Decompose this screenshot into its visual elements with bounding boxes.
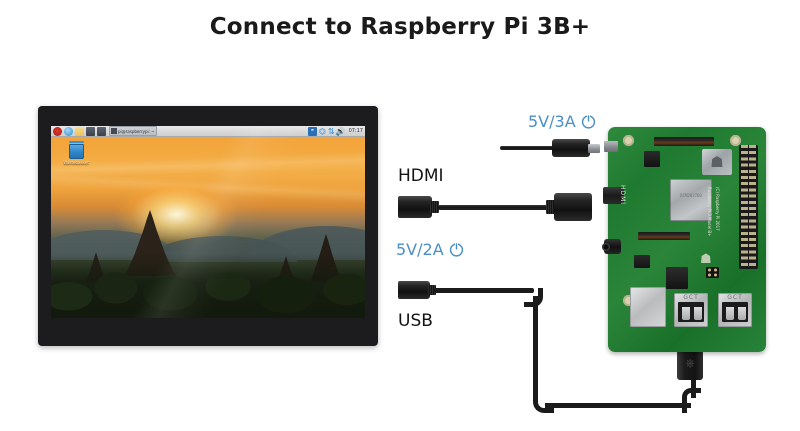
volume-icon[interactable]: 🔊 bbox=[336, 127, 346, 136]
wallpaper-foliage bbox=[51, 254, 365, 318]
label-power-pi-text: 5V/3A bbox=[528, 112, 576, 131]
file-manager-icon[interactable] bbox=[75, 127, 84, 136]
usb-port-tongue bbox=[682, 307, 690, 320]
raspberry-pi-3b-plus-board: ☗ BCM2837B0 ☗ Raspberry Pi 3 Model B+ (C… bbox=[608, 127, 766, 352]
soc-marking: BCM2837B0 bbox=[670, 179, 712, 221]
usb-port-brand-label: GCT bbox=[674, 294, 708, 301]
usb-port-pair-1: GCT bbox=[674, 293, 708, 327]
network-updown-icon[interactable]: ⇅ bbox=[328, 127, 334, 136]
hdmi-port-silkscreen: HDMI bbox=[619, 185, 626, 205]
hdmi-connector-pi-side bbox=[554, 193, 592, 221]
pi-power-cable-wire bbox=[500, 146, 558, 150]
usb-port-tongue bbox=[738, 307, 746, 320]
taskbar-clock: 07:17 bbox=[349, 127, 363, 136]
label-power-pi: 5V/3A bbox=[528, 112, 597, 131]
power-symbol-icon bbox=[448, 241, 465, 258]
desktop-icon-label: Wastebasket bbox=[59, 160, 93, 165]
taskbar-window-button[interactable]: pi@raspberrypi: ~ bbox=[109, 126, 157, 136]
bluetooth-icon[interactable]: ⏣ bbox=[319, 127, 326, 136]
wireless-chip-shield: ☗ bbox=[702, 149, 732, 175]
ram-chip bbox=[644, 151, 660, 167]
gpio-header-row-2 bbox=[749, 145, 756, 269]
raspberry-silkscreen-logo: ☗ bbox=[700, 251, 712, 267]
terminal-icon[interactable] bbox=[97, 127, 106, 136]
usb-port-tongue bbox=[726, 307, 734, 320]
csi-camera-connector bbox=[654, 137, 714, 146]
micro-usb-tip bbox=[588, 144, 600, 153]
desktop-icon-wastebasket[interactable]: Wastebasket bbox=[59, 141, 93, 165]
wifi-icon[interactable]: ◓ bbox=[308, 127, 317, 136]
bcm2837b0-soc: BCM2837B0 bbox=[670, 179, 712, 221]
display-bezel-inner: Wastebasket pi@raspberrypi: ~ ◓ ⏣ ⇅ bbox=[51, 126, 365, 318]
raspberry-logo-icon: ☗ bbox=[710, 155, 723, 170]
mounting-hole bbox=[623, 135, 634, 146]
usb-port-pair-2: GCT bbox=[718, 293, 752, 327]
page-title: Connect to Raspberry Pi 3B+ bbox=[0, 14, 800, 40]
micro-usb-power-connector bbox=[552, 139, 590, 157]
usb-connector-display-side bbox=[398, 281, 430, 299]
label-power-display: 5V/2A bbox=[396, 240, 465, 259]
label-usb: USB bbox=[398, 311, 433, 331]
power-symbol-icon bbox=[580, 113, 597, 130]
web-browser-icon[interactable] bbox=[64, 127, 73, 136]
taskbar-window-title: pi@raspberrypi: ~ bbox=[118, 129, 155, 134]
system-tray: ◓ ⏣ ⇅ 🔊 07:17 bbox=[308, 127, 363, 136]
power-management-ic bbox=[666, 267, 688, 289]
audio-video-jack-ring bbox=[602, 243, 610, 251]
desktop-wallpaper bbox=[51, 126, 365, 318]
usb-cable-segment-vertical bbox=[533, 296, 538, 400]
dsi-display-connector bbox=[638, 232, 690, 240]
raspberry-menu-icon[interactable] bbox=[53, 127, 62, 136]
terminal-window-icon bbox=[111, 128, 117, 134]
ethernet-port bbox=[630, 287, 666, 327]
label-hdmi: HDMI bbox=[398, 166, 444, 186]
terminal-icon[interactable] bbox=[86, 127, 95, 136]
label-power-display-text: 5V/2A bbox=[396, 240, 444, 259]
micro-usb-power-port bbox=[604, 141, 618, 152]
usb-cable-segment-horizontal bbox=[545, 403, 691, 408]
raspberry-pi-display: Wastebasket pi@raspberrypi: ~ ◓ ⏣ ⇅ bbox=[38, 106, 378, 346]
wastebasket-lid-icon bbox=[69, 141, 84, 143]
lan-controller-chip bbox=[634, 255, 650, 268]
wastebasket-icon bbox=[69, 144, 84, 159]
usb-port-brand-label: GCT bbox=[718, 294, 752, 301]
board-model-silkscreen: Raspberry Pi 3 Model B+ bbox=[707, 187, 712, 237]
desktop-taskbar: pi@raspberrypi: ~ ◓ ⏣ ⇅ 🔊 07:17 bbox=[51, 126, 365, 137]
display-screen: Wastebasket pi@raspberrypi: ~ ◓ ⏣ ⇅ bbox=[51, 126, 365, 318]
hdmi-cable-wire bbox=[438, 205, 548, 210]
usb-trident-icon: ⎈ bbox=[684, 355, 696, 371]
board-copyright-silkscreen: (C) Raspberry Pi 2017 bbox=[715, 187, 720, 231]
usb-cable-segment-horizontal bbox=[434, 288, 534, 293]
run-header-pins bbox=[706, 267, 719, 278]
hdmi-connector-display-side bbox=[398, 196, 432, 218]
usb-port-tongue bbox=[694, 307, 702, 320]
